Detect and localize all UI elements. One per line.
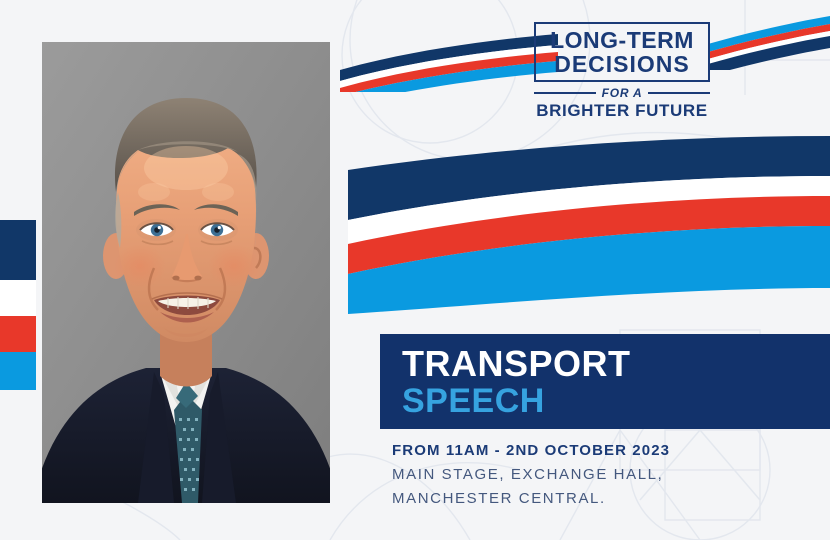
ribbon-main <box>336 128 830 314</box>
ribbon-band-red <box>0 316 36 352</box>
ribbon-band-blue <box>0 352 36 390</box>
logo-connector-label: FOR A <box>602 86 643 100</box>
headline-title: TRANSPORT <box>402 346 631 382</box>
speaker-portrait <box>42 42 330 503</box>
logo-line-1: LONG-TERM <box>543 29 701 52</box>
event-venue-line-1: MAIN STAGE, EXCHANGE HALL, <box>392 463 822 487</box>
logo-line-3: BRIGHTER FUTURE <box>534 102 710 121</box>
logo-rule-right <box>648 92 710 94</box>
logo-connector: FOR A <box>534 86 710 100</box>
campaign-logo: LONG-TERM DECISIONS FOR A BRIGHTER FUTUR… <box>534 22 710 121</box>
ribbon-left-edge <box>0 220 36 390</box>
logo-rule-left <box>534 92 596 94</box>
ribbon-band-white <box>0 280 36 316</box>
event-details: FROM 11AM - 2ND OCTOBER 2023 MAIN STAGE,… <box>392 440 822 511</box>
ribbon-top-right <box>700 0 830 70</box>
headline-panel: TRANSPORT SPEECH <box>380 334 830 429</box>
logo-box: LONG-TERM DECISIONS <box>534 22 710 82</box>
ribbon-top-left <box>334 28 564 92</box>
event-venue-line-2: MANCHESTER CENTRAL. <box>392 487 822 511</box>
poster-canvas: LONG-TERM DECISIONS FOR A BRIGHTER FUTUR… <box>0 0 830 540</box>
headline-subtitle: SPEECH <box>402 384 545 418</box>
event-time: FROM 11AM - 2ND OCTOBER 2023 <box>392 440 822 463</box>
logo-line-2: DECISIONS <box>543 52 701 76</box>
ribbon-band-navy <box>0 220 36 280</box>
